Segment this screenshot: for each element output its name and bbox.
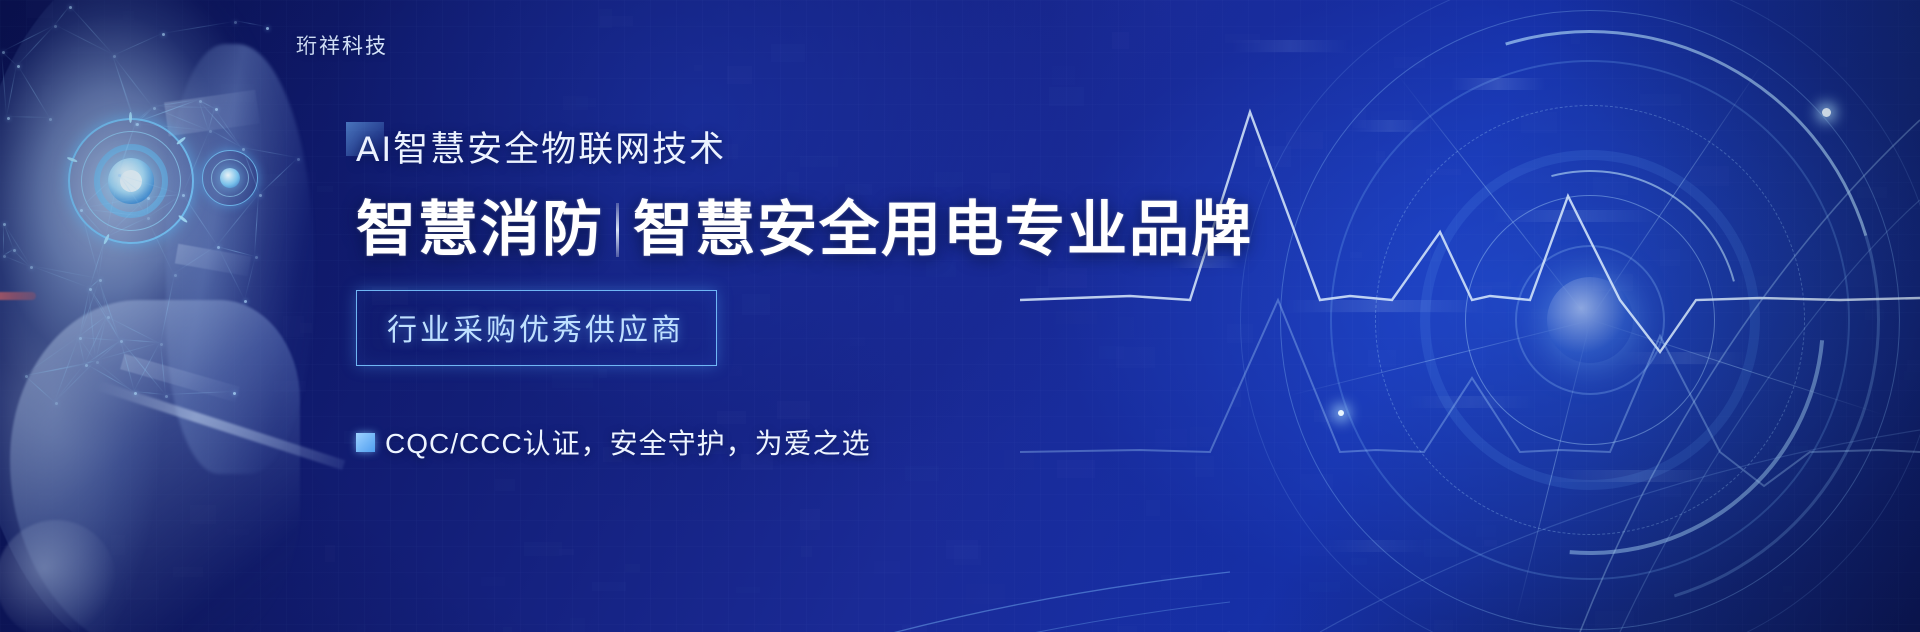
network-link (217, 246, 245, 300)
network-link (147, 194, 183, 218)
network-link (6, 65, 17, 117)
network-link (165, 391, 233, 395)
network-link (162, 21, 234, 34)
network-dot (55, 402, 58, 405)
bottom-curve-lines-decor (330, 502, 1230, 632)
network-link (3, 223, 4, 255)
network-link (112, 55, 153, 108)
kicker-row: AI智慧安全物联网技术 (356, 128, 1336, 180)
network-link (136, 123, 209, 131)
mosaic-block (495, 479, 515, 491)
network-dot (266, 27, 269, 30)
network-link (134, 106, 153, 123)
network-link (234, 20, 266, 27)
network-link (2, 25, 54, 52)
network-link (182, 193, 218, 246)
network-link (173, 245, 217, 274)
network-link (254, 194, 259, 256)
network-link (3, 222, 31, 266)
network-dot (244, 300, 247, 303)
network-dot (134, 392, 137, 395)
network-link (134, 391, 165, 395)
hero-tagline-row: CQC/CCC认证，安全守护，为爱之选 (356, 422, 1336, 462)
square-bullet-icon (356, 433, 375, 452)
robot-chin-highlight (0, 520, 116, 632)
network-link (259, 158, 298, 195)
headline-part-right: 智慧安全用电专业品牌 (633, 192, 1253, 268)
mosaic-block (694, 65, 702, 71)
network-link (153, 106, 215, 108)
network-link (17, 64, 50, 118)
network-link (216, 193, 259, 246)
network-link (242, 148, 260, 194)
network-link (147, 197, 148, 217)
network-dot (7, 117, 10, 120)
hero-kicker: AI智慧安全物联网技术 (356, 128, 1336, 172)
network-link (54, 6, 70, 26)
brand-logo-text[interactable]: 珩祥科技 (296, 30, 388, 60)
hero-banner: 珩祥科技 AI智慧安全物联网技术 智慧消防 智慧安全用电专业品牌 行业采购优秀供… (0, 0, 1920, 632)
network-dot (233, 392, 236, 395)
network-link (244, 256, 256, 300)
network-link (1, 51, 17, 66)
headline-divider (616, 203, 619, 257)
network-link (160, 343, 166, 395)
network-link (17, 25, 55, 66)
network-link (112, 55, 135, 123)
network-link (242, 147, 297, 158)
network-link (24, 375, 55, 403)
network-link (146, 217, 174, 274)
hero-content: AI智慧安全物联网技术 智慧消防 智慧安全用电专业品牌 行业采购优秀供应商 CQ… (356, 128, 1336, 462)
network-link (80, 208, 147, 217)
cta-button[interactable]: 行业采购优秀供应商 (356, 290, 717, 366)
network-link (69, 5, 114, 55)
network-link (30, 265, 89, 288)
mosaic-block (771, 44, 805, 62)
network-link (54, 24, 113, 55)
mosaic-block (576, 98, 596, 107)
mosaic-block (600, 16, 633, 26)
network-link (105, 217, 147, 238)
network-dot (49, 118, 52, 121)
mosaic-block (727, 66, 752, 84)
particle-network-decor (0, 0, 330, 420)
hero-headline: 智慧消防 智慧安全用电专业品牌 (356, 192, 1336, 268)
network-link (1, 51, 7, 117)
network-link (7, 116, 49, 118)
network-link (182, 130, 210, 194)
network-link (118, 123, 136, 174)
network-link (214, 108, 242, 149)
network-dot (165, 395, 168, 398)
network-link (118, 174, 182, 195)
network-link (160, 274, 175, 343)
network-link (135, 99, 199, 123)
mosaic-block (905, 466, 939, 481)
network-link (113, 33, 162, 56)
headline-part-left: 智慧消防 (356, 192, 604, 268)
hero-tagline: CQC/CCC认证，安全守护，为爱之选 (385, 422, 871, 462)
